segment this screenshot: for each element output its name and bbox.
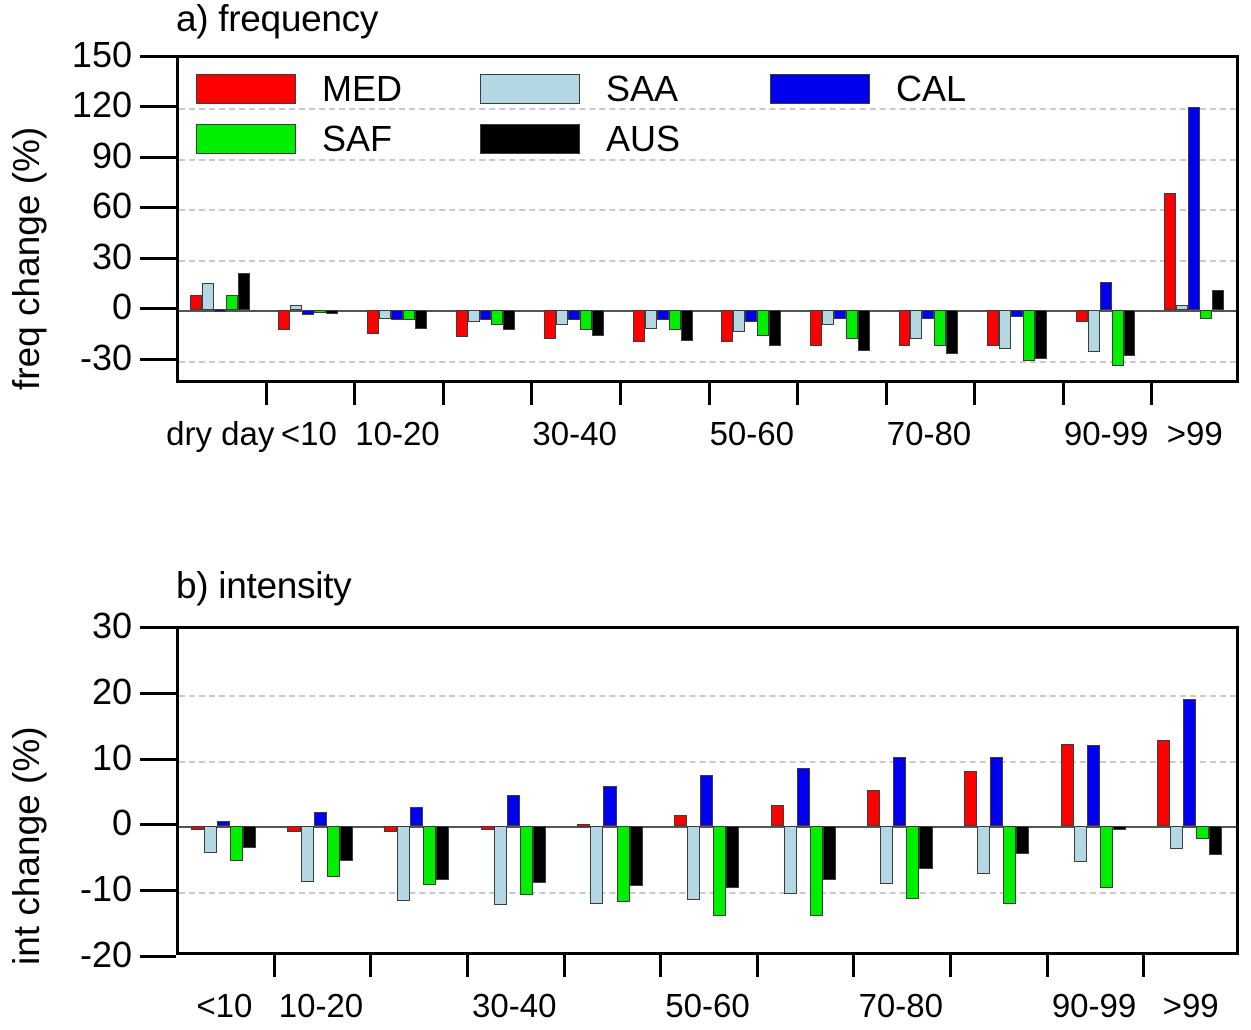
y-tick-label: 10 [0,737,132,779]
bar [278,310,290,330]
bar [503,310,515,330]
x-tick-label: 10-20 [355,415,439,453]
y-tick-mark [140,105,176,108]
bar [726,826,739,887]
x-tick-mark [265,383,268,405]
y-tick-label: 150 [0,34,132,76]
gridline [179,892,1236,894]
bar [1183,699,1196,827]
bar [1176,305,1188,310]
bar [191,826,204,830]
bar [910,310,922,339]
bar [721,310,733,342]
x-tick-mark [530,383,533,405]
bar [580,310,592,330]
x-tick-mark [885,383,888,405]
x-tick-mark [949,955,952,977]
bar [214,309,226,312]
bar [287,826,300,832]
bar [1212,290,1224,310]
bar [1112,310,1124,366]
gridline [179,260,1236,262]
x-tick-mark [619,383,622,405]
y-tick-mark [140,692,176,695]
bar [867,790,880,827]
bar [301,826,314,882]
x-tick-mark [852,955,855,977]
bar [769,310,781,345]
y-tick-mark [140,758,176,761]
legend-label-aus: AUS [606,118,680,160]
x-tick-mark [973,383,976,405]
bar [846,310,858,339]
x-tick-label: <10 [196,987,252,1025]
x-tick-label: >99 [1163,987,1219,1025]
bar [1003,826,1016,904]
x-tick-label: >99 [1167,415,1223,453]
bar [922,310,934,318]
bar [468,310,480,322]
legend-item-med: MED [196,68,402,110]
bar [230,826,243,861]
bar [391,310,403,320]
bar [544,310,556,339]
bar [202,283,214,310]
bar [617,826,630,902]
bar [700,775,713,826]
bar [880,826,893,883]
legend-label-saf: SAF [322,118,392,160]
bar [1100,282,1112,311]
bar [999,310,1011,349]
bar [919,826,932,869]
bar [327,826,340,877]
bar [858,310,870,350]
bar [603,786,616,826]
bar [456,310,468,337]
bar [1035,310,1047,359]
y-tick-label: 30 [0,236,132,278]
x-tick-mark [353,383,356,405]
bar [645,310,657,329]
gridline [179,209,1236,211]
bar [657,310,669,320]
legend-item-cal: CAL [770,68,966,110]
x-tick-label: 50-60 [665,987,749,1025]
bar [423,826,436,885]
bar [481,826,494,830]
bar [314,812,327,826]
bar [326,310,338,313]
y-tick-mark [140,955,176,958]
bar [340,826,353,860]
bar [946,310,958,354]
bar [507,795,520,826]
bar [290,305,302,310]
bar [1209,826,1222,855]
bar [1087,745,1100,826]
legend-item-aus: AUS [480,118,680,160]
panel-a-title: a) frequency [176,0,378,40]
bar [403,310,415,320]
bar [964,771,977,826]
y-tick-label: 90 [0,135,132,177]
bar [797,768,810,827]
bar [669,310,681,330]
bar [630,826,643,886]
x-tick-label: 10-20 [279,987,363,1025]
bar [243,826,256,848]
bar [687,826,700,900]
x-tick-mark [442,383,445,405]
bar [1200,310,1212,318]
bar [822,310,834,325]
bar [238,273,250,310]
legend-swatch-saf [196,124,296,154]
bar [745,310,757,322]
gridline [179,361,1236,363]
y-tick-mark [140,889,176,892]
bar [436,826,449,879]
x-tick-mark [1046,955,1049,977]
bar [1016,826,1029,854]
y-tick-label: -10 [0,868,132,910]
bar [568,310,580,320]
legend-swatch-saa [480,74,580,104]
bar [674,815,687,827]
bar [987,310,999,345]
legend-item-saf: SAF [196,118,392,160]
x-tick-mark [369,955,372,977]
bar [494,826,507,905]
legend-swatch-aus [480,124,580,154]
y-tick-label: 0 [0,802,132,844]
x-tick-mark [1142,955,1145,977]
bar [520,826,533,894]
bar [1164,193,1176,311]
bar [590,826,603,904]
bar [757,310,769,335]
bar [713,826,726,915]
y-tick-mark [140,626,176,629]
x-tick-label: 30-40 [472,987,556,1025]
legend-swatch-med [196,74,296,104]
bar [1157,740,1170,827]
x-tick-label: 50-60 [710,415,794,453]
bar [810,826,823,915]
bar [934,310,946,345]
bar [733,310,745,332]
bar [577,824,590,827]
y-tick-mark [140,823,176,826]
bar [834,310,846,318]
bar [990,757,1003,826]
x-tick-mark [273,955,276,977]
bar [1088,310,1100,352]
x-tick-label: 90-99 [1052,987,1136,1025]
bar [1100,826,1113,887]
bar [556,310,568,325]
x-tick-label: 70-80 [859,987,943,1025]
x-tick-label: 30-40 [532,415,616,453]
bar [190,295,202,310]
bar [771,805,784,827]
bar [1188,107,1200,311]
x-tick-mark [756,955,759,977]
bar [204,826,217,852]
x-tick-mark [1150,383,1153,405]
bar [491,310,503,325]
bar [1074,826,1087,862]
y-tick-label: 0 [0,286,132,328]
x-tick-label: 90-99 [1064,415,1148,453]
legend-swatch-cal [770,74,870,104]
bar [977,826,990,873]
gridline [179,695,1236,697]
bar [384,826,397,831]
bar [784,826,797,894]
bar [415,310,427,329]
bar [823,826,836,880]
bar [893,757,906,826]
y-tick-label: 20 [0,671,132,713]
x-tick-label: 70-80 [887,415,971,453]
bar [1076,310,1088,322]
y-tick-mark [140,358,176,361]
bar [226,295,238,310]
bar [1124,310,1136,355]
x-tick-mark [466,955,469,977]
y-tick-label: 60 [0,185,132,227]
x-tick-label: <10 [281,415,337,453]
bar [397,826,410,901]
y-tick-mark [140,307,176,310]
bar [314,310,326,313]
bar [533,826,546,883]
bar [1113,826,1126,829]
legend-label-saa: SAA [606,68,678,110]
y-tick-mark [140,206,176,209]
x-tick-mark [1062,383,1065,405]
bar [302,310,314,315]
bar [480,310,492,320]
bar [1196,826,1209,839]
bar [1011,310,1023,317]
bar [410,807,423,826]
bar [1061,744,1074,826]
y-tick-label: -30 [0,337,132,379]
bar [633,310,645,342]
bar [1170,826,1183,849]
y-tick-label: 120 [0,84,132,126]
y-tick-mark [140,257,176,260]
y-tick-label: 30 [0,605,132,647]
x-tick-mark [796,383,799,405]
y-tick-mark [140,55,176,58]
bar [379,310,391,318]
x-tick-label: dry day [166,415,274,453]
bar [367,310,379,334]
gridline [179,761,1236,763]
y-tick-mark [140,156,176,159]
bar [906,826,919,899]
legend-label-cal: CAL [896,68,966,110]
x-tick-mark [563,955,566,977]
x-tick-mark [659,955,662,977]
panel-b-plot-area [176,626,1239,955]
x-tick-mark [708,383,711,405]
bar [681,310,693,340]
bar [810,310,822,345]
legend-label-med: MED [322,68,402,110]
y-tick-label: -20 [0,934,132,976]
panel-b-title: b) intensity [176,565,351,607]
bar [592,310,604,335]
bar [217,821,230,826]
legend-item-saa: SAA [480,68,678,110]
bar [899,310,911,345]
bar [1023,310,1035,360]
